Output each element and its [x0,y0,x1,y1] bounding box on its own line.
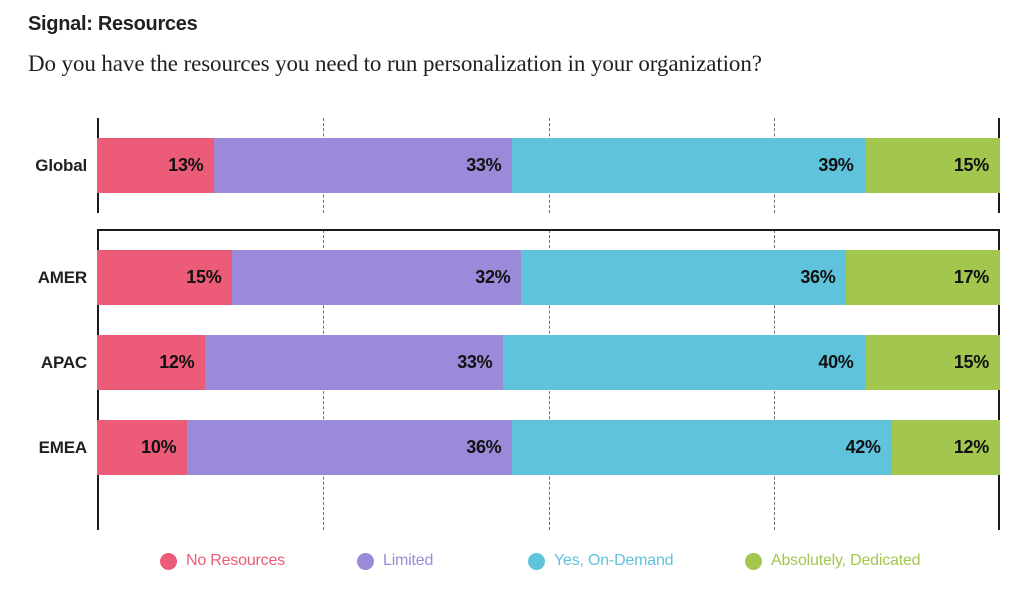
chart-legend: No ResourcesLimitedYes, On-DemandAbsolut… [0,543,1024,579]
legend-item-label: Absolutely, Dedicated [771,552,920,570]
bar-segment-value: 39% [818,155,853,176]
bar-segment-value: 15% [954,352,989,373]
bar-segment[interactable]: 12% [97,335,205,390]
chart-row: AMER15%32%36%17% [0,250,1024,305]
bar-segment-value: 40% [818,352,853,373]
bar-segment-value: 10% [141,437,176,458]
chart-header: Signal: Resources Do you have the resour… [28,12,1008,77]
bar-segment-value: 36% [800,267,835,288]
bar-segment-value: 42% [845,437,880,458]
bar-segment-value: 12% [954,437,989,458]
bar-segment[interactable]: 36% [187,420,512,475]
bar-segment[interactable]: 42% [512,420,891,475]
chart-row: Global13%33%39%15% [0,138,1024,193]
bar-segment[interactable]: 36% [521,250,846,305]
bar-segment-value: 15% [954,155,989,176]
bar-segment-value: 17% [954,267,989,288]
group-divider [97,229,1000,231]
legend-item[interactable]: No Resources [160,543,285,579]
legend-swatch-icon [528,553,545,570]
bar-segment[interactable]: 15% [97,250,232,305]
chart-plot-area: Global13%33%39%15%AMER15%32%36%17%APAC12… [0,118,1024,530]
bar-segment[interactable]: 12% [892,420,1000,475]
legend-item-label: Yes, On-Demand [554,552,673,570]
row-label-emea: EMEA [0,420,87,475]
bar-segment[interactable]: 13% [97,138,214,193]
legend-swatch-icon [745,553,762,570]
row-label-global: Global [0,138,87,193]
page-title: Signal: Resources [28,12,1008,36]
bar-segment[interactable]: 32% [232,250,521,305]
chart-row: APAC12%33%40%15% [0,335,1024,390]
bar-segment[interactable]: 33% [214,138,512,193]
legend-item[interactable]: Absolutely, Dedicated [745,543,920,579]
bar-segment[interactable]: 10% [97,420,187,475]
bar-segment-value: 33% [466,155,501,176]
legend-swatch-icon [160,553,177,570]
bar-segment[interactable]: 40% [503,335,864,390]
bar-segment[interactable]: 15% [865,138,1000,193]
bar-segment[interactable]: 39% [512,138,864,193]
stacked-bar: 15%32%36%17% [97,250,1000,305]
bar-segment-value: 12% [159,352,194,373]
bar-segment[interactable]: 17% [846,250,1000,305]
stacked-bar: 12%33%40%15% [97,335,1000,390]
chart-row: EMEA10%36%42%12% [0,420,1024,475]
legend-item-label: No Resources [186,552,285,570]
row-label-apac: APAC [0,335,87,390]
stacked-bar: 13%33%39%15% [97,138,1000,193]
bar-segment-value: 15% [186,267,221,288]
row-label-amer: AMER [0,250,87,305]
bar-segment-value: 32% [475,267,510,288]
bar-segment[interactable]: 15% [865,335,1000,390]
legend-swatch-icon [357,553,374,570]
legend-item[interactable]: Yes, On-Demand [528,543,673,579]
bar-segment-value: 13% [168,155,203,176]
chart-question: Do you have the resources you need to ru… [28,50,1008,77]
bar-segment-value: 36% [466,437,501,458]
bar-segment[interactable]: 33% [205,335,503,390]
legend-item[interactable]: Limited [357,543,433,579]
bar-segment-value: 33% [457,352,492,373]
stacked-bar: 10%36%42%12% [97,420,1000,475]
legend-item-label: Limited [383,552,433,570]
